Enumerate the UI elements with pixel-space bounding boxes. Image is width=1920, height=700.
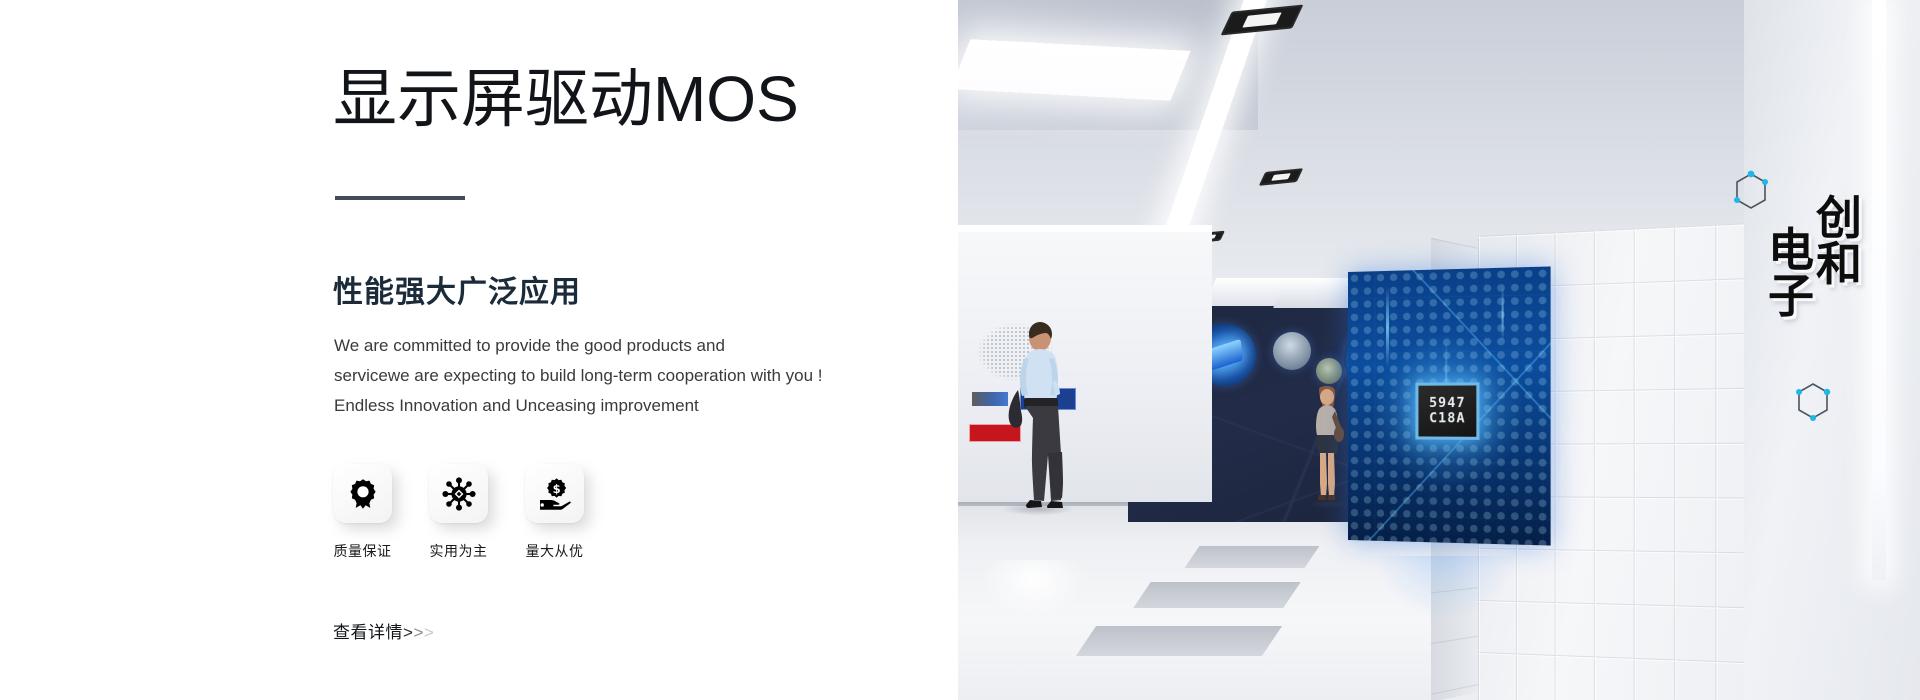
chevron-3-icon: > <box>424 623 434 642</box>
feature-item-practical[interactable]: 实用为主 <box>429 464 488 561</box>
chevron-2-icon: > <box>413 623 423 642</box>
floor-inlay <box>1133 582 1301 608</box>
page-title: 显示屏驱动MOS <box>333 62 799 138</box>
description-paragraph: We are committed to provide the good pro… <box>334 331 874 421</box>
description-line-3: Endless Innovation and Unceasing improve… <box>334 391 874 421</box>
company-wall-sign: 创 和 电 子 <box>1768 196 1862 319</box>
hero-banner: 显示屏驱动MOS 性能强大广泛应用 We are committed to pr… <box>0 0 1920 700</box>
vertical-light-strip <box>1872 0 1886 580</box>
subtitle: 性能强大广泛应用 <box>333 267 581 311</box>
sign-char: 创 <box>1816 196 1862 242</box>
chevron-1-icon: > <box>403 623 413 642</box>
feature-item-quality[interactable]: 质量保证 <box>333 464 392 561</box>
award-badge-icon <box>346 477 380 511</box>
feature-icon-box: $ <box>525 464 584 523</box>
svg-text:$: $ <box>552 481 560 495</box>
screen-floor-glow <box>1348 556 1544 700</box>
description-line-2: servicewe are expecting to build long-te… <box>334 361 874 391</box>
view-details-link[interactable]: 查看详情>>> <box>333 618 434 643</box>
chip-glow-icon <box>1207 339 1242 371</box>
led-display-screen: 5947 C18A <box>1348 266 1551 545</box>
feature-icon-box <box>333 464 392 523</box>
left-text-panel: 显示屏驱动MOS 性能强大广泛应用 We are committed to pr… <box>0 0 958 700</box>
feature-icon-box <box>429 464 488 523</box>
hexagon-molecule-icon <box>1792 380 1834 428</box>
sign-column-left: 电 子 <box>1768 228 1814 319</box>
person-businessman <box>994 322 1080 508</box>
feature-item-bulk-discount[interactable]: $ 量大从优 <box>525 464 584 561</box>
floor-inlay <box>1076 626 1282 656</box>
hexagon-molecule-icon <box>1730 170 1772 218</box>
signage-wall: 创 和 电 子 <box>1744 0 1920 700</box>
sign-column-right: 创 和 <box>1816 196 1862 319</box>
feature-label: 质量保证 <box>334 541 392 561</box>
wall-circle-photo <box>1273 332 1311 370</box>
description-line-1: We are committed to provide the good pro… <box>334 331 874 361</box>
network-hub-icon <box>442 477 476 511</box>
person-visitor <box>1306 386 1348 502</box>
showroom-photo: 展厅规划 CHANGHE EXHIBITION <box>958 0 1920 700</box>
chip-label-line1: 5947 <box>1429 396 1465 411</box>
feature-label: 实用为主 <box>430 541 488 561</box>
hand-money-icon: $ <box>538 477 572 511</box>
feature-label: 量大从优 <box>526 541 584 561</box>
chip-label-line2: C18A <box>1429 411 1465 426</box>
floor-inlay <box>1185 546 1320 568</box>
sign-char: 子 <box>1768 274 1814 320</box>
title-divider <box>335 196 465 200</box>
text-content: 显示屏驱动MOS 性能强大广泛应用 We are committed to pr… <box>333 0 933 700</box>
sign-char: 和 <box>1816 242 1862 288</box>
floor-reflection <box>968 560 1098 656</box>
cta-label: 查看详情 <box>333 623 403 642</box>
wall-circle-photo <box>1316 358 1342 384</box>
sign-char: 电 <box>1768 228 1814 274</box>
chip-graphic: 5947 C18A <box>1415 383 1479 441</box>
feature-list: 质量保证 <box>333 464 584 561</box>
